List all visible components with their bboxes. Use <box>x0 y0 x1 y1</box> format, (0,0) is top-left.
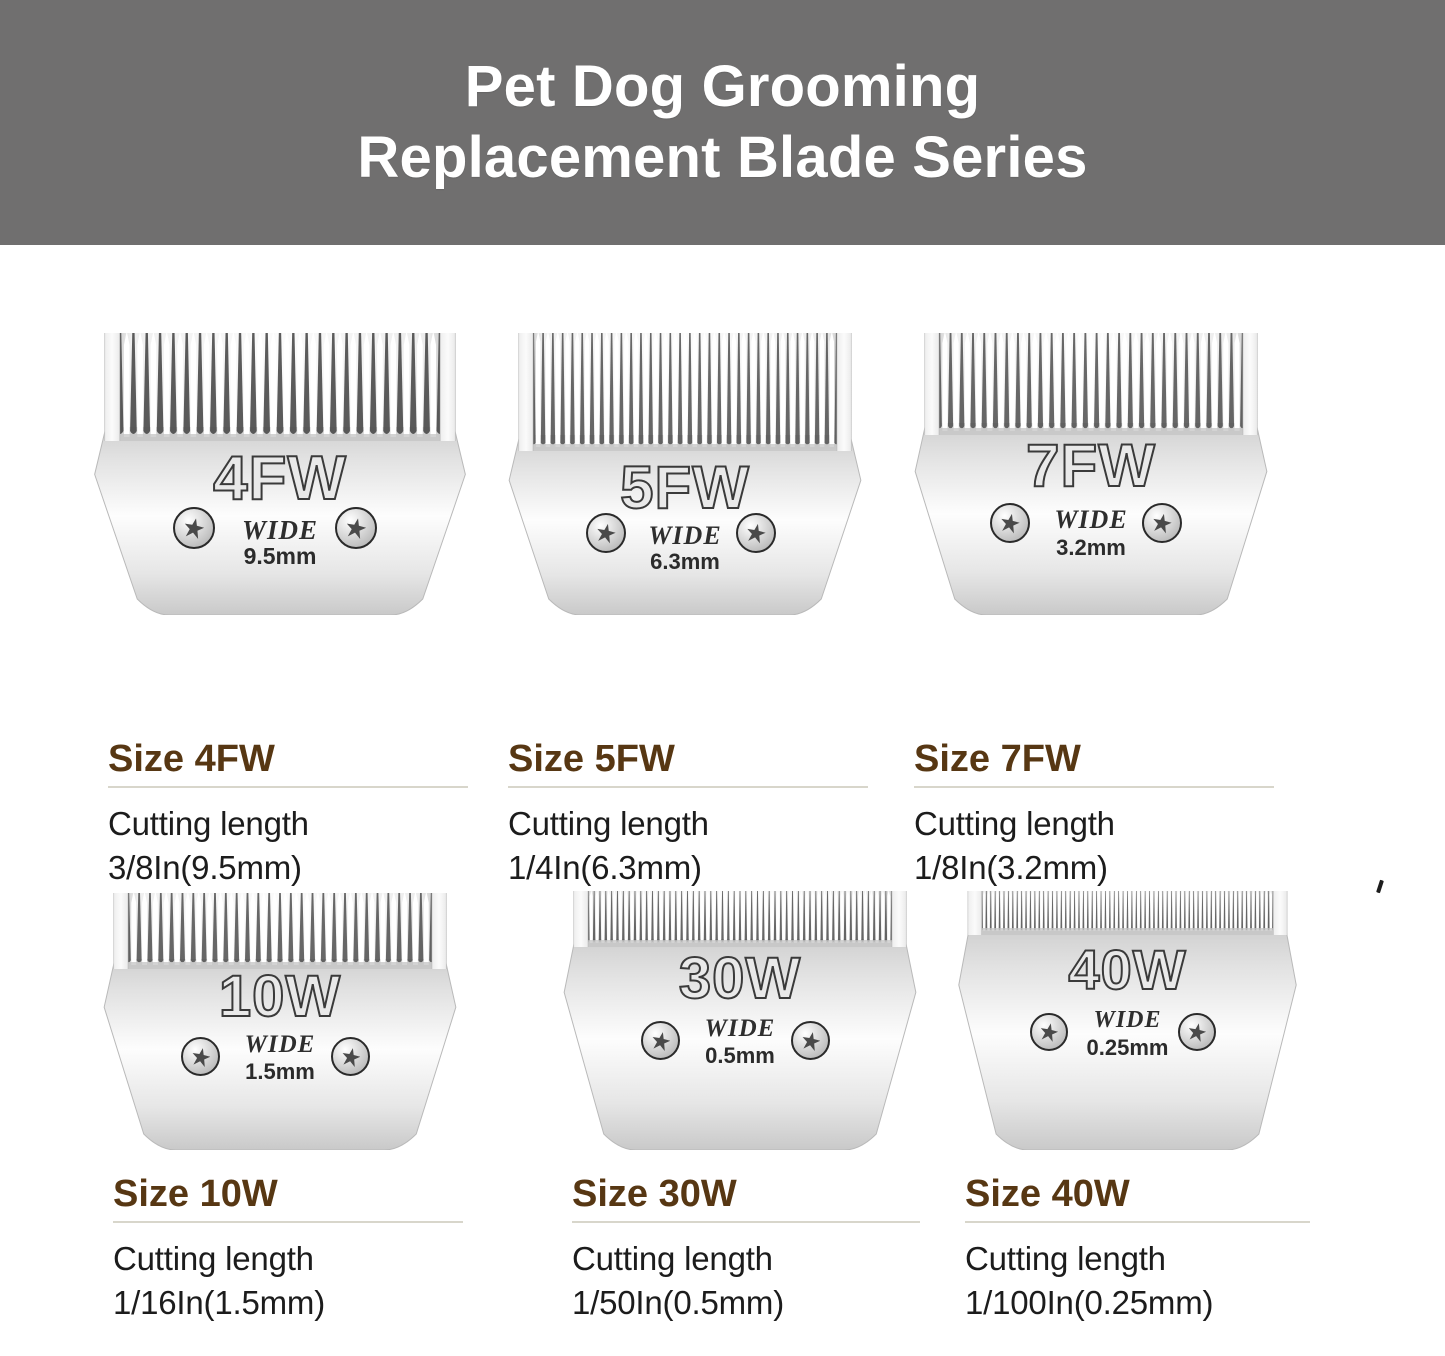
caption-10w: Size 10W Cutting length 1/16In(1.5mm) <box>113 1175 463 1325</box>
product-card-10w: 10WWIDE1.5mm Size 10W Cutting length 1/1… <box>0 885 460 1355</box>
product-card-40w: 40WWIDE0.25mm Size 40W Cutting length 1/… <box>860 885 1445 1355</box>
product-row-1: 4FWWIDE9.5mm Size 4FW Cutting length 3/8… <box>0 325 1445 845</box>
product-card-4fw: 4FWWIDE9.5mm Size 4FW Cutting length 3/8… <box>0 325 415 845</box>
screw-icon-left <box>173 507 215 549</box>
blade-image-10w: 10WWIDE1.5mm <box>95 885 465 1150</box>
caption-description: Cutting length 1/8In(3.2mm) <box>914 802 1274 890</box>
header-banner: Pet Dog Grooming Replacement Blade Serie… <box>0 0 1445 245</box>
screw-icon-left <box>641 1021 680 1060</box>
screw-icon-right <box>331 1037 370 1076</box>
page-title: Pet Dog Grooming Replacement Blade Serie… <box>357 52 1087 194</box>
caption-title: Size 7FW <box>914 740 1274 780</box>
blade-body-40w: 40WWIDE0.25mm <box>950 885 1305 1150</box>
product-card-5fw: 5FWWIDE6.3mm Size 5FW Cutting length 1/4… <box>415 325 830 845</box>
blade-body-10w: 10WWIDE1.5mm <box>95 885 465 1150</box>
caption-title: Size 10W <box>113 1175 463 1215</box>
screw-icon-right <box>1178 1013 1216 1051</box>
screw-icon-left <box>1030 1013 1068 1051</box>
product-grid: 4FWWIDE9.5mm Size 4FW Cutting length 3/8… <box>0 245 1445 1356</box>
screw-icon-right <box>335 507 377 549</box>
blade-body-5fw: 5FWWIDE6.3mm <box>500 325 870 615</box>
caption-divider <box>508 786 868 788</box>
screw-icon-right <box>791 1021 830 1060</box>
caption-divider <box>108 786 468 788</box>
blade-image-7fw: 7FWWIDE3.2mm <box>906 325 1276 615</box>
product-card-7fw: 7FWWIDE3.2mm Size 7FW Cutting length 1/8… <box>830 325 1445 845</box>
caption-7fw: Size 7FW Cutting length 1/8In(3.2mm) <box>914 740 1274 890</box>
product-card-30w: 30WWIDE0.5mm Size 30W Cutting length 1/5… <box>460 885 860 1355</box>
caption-divider <box>113 1221 463 1223</box>
caption-title: Size 5FW <box>508 740 868 780</box>
blade-image-5fw: 5FWWIDE6.3mm <box>500 325 870 615</box>
caption-description: Cutting length 3/8In(9.5mm) <box>108 802 468 890</box>
blade-body-7fw: 7FWWIDE3.2mm <box>906 325 1276 615</box>
caption-divider <box>914 786 1274 788</box>
caption-title: Size 40W <box>965 1175 1310 1215</box>
caption-description: Cutting length 1/16In(1.5mm) <box>113 1237 463 1325</box>
caption-title: Size 4FW <box>108 740 468 780</box>
screw-icon-left <box>181 1037 220 1076</box>
caption-4fw: Size 4FW Cutting length 3/8In(9.5mm) <box>108 740 468 890</box>
screw-icon-right <box>736 513 776 553</box>
caption-40w: Size 40W Cutting length 1/100In(0.25mm) <box>965 1175 1310 1325</box>
caption-5fw: Size 5FW Cutting length 1/4In(6.3mm) <box>508 740 868 890</box>
caption-description: Cutting length 1/4In(6.3mm) <box>508 802 868 890</box>
screw-icon-left <box>990 503 1030 543</box>
screw-icon-right <box>1142 503 1182 543</box>
screw-icon-left <box>586 513 626 553</box>
product-row-2: 10WWIDE1.5mm Size 10W Cutting length 1/1… <box>0 885 1445 1355</box>
blade-image-40w: 40WWIDE0.25mm <box>950 885 1305 1150</box>
caption-divider <box>965 1221 1310 1223</box>
caption-description: Cutting length 1/100In(0.25mm) <box>965 1237 1310 1325</box>
